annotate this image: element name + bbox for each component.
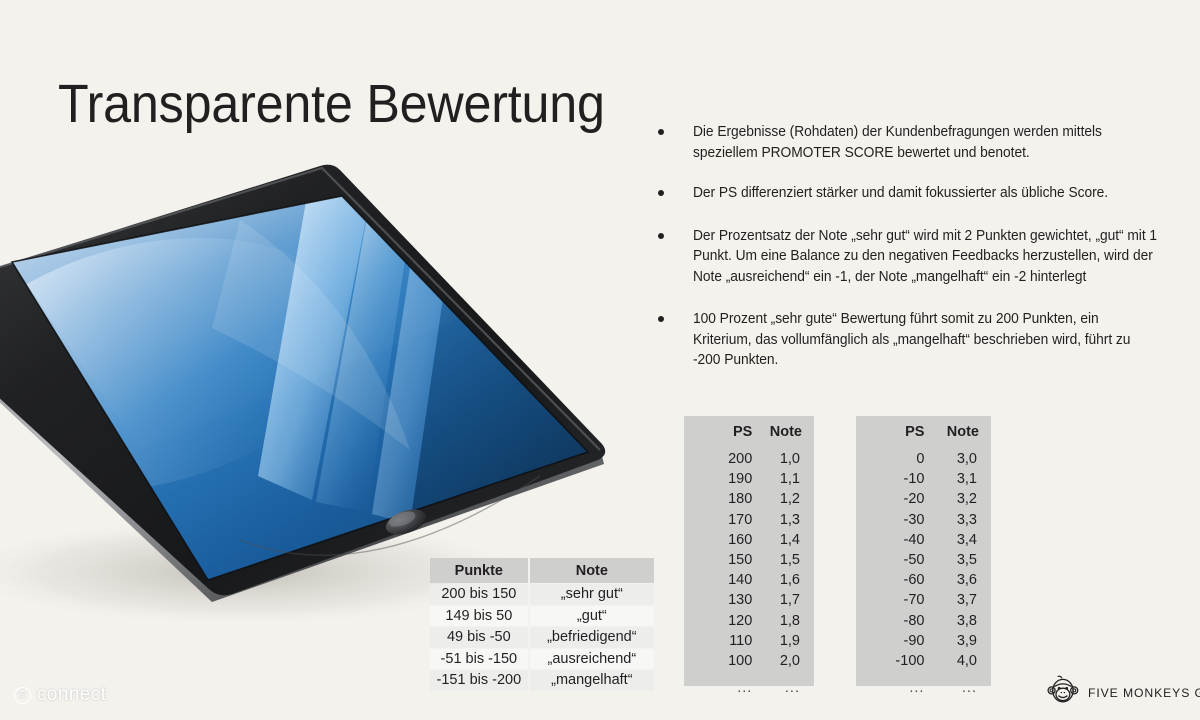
table-row: -103,1 [878,469,979,489]
table-row-continuation: ...... [710,671,802,698]
cell-ps: -30 [878,510,924,530]
bullet-item: 100 Prozent „sehr gute“ Bewertung führt … [655,309,1175,371]
cell-note: 3,9 [924,631,979,651]
table-row: -703,7 [878,590,979,610]
cell-ps: -40 [878,530,924,550]
column-header-ps: PS [878,424,924,449]
table-row: -203,2 [878,489,979,509]
table-row: -503,5 [878,550,979,570]
table-row: 1401,6 [710,570,802,590]
table-row: -51 bis -150 „ausreichend“ [430,649,654,670]
bullet-dot-icon [655,316,667,322]
bullet-dot-icon [655,129,667,135]
cell-note: 1,5 [752,550,802,570]
cell-ps: 100 [710,651,752,671]
cell-note: 3,2 [924,489,979,509]
table-row: 03,0 [878,449,979,469]
bullet-list: Die Ergebnisse (Rohdaten) der Kundenbefr… [655,122,1175,371]
cell-ps: 120 [710,611,752,631]
ps-note-table-positive: PS Note 2001,0 1901,1 1801,2 1701,3 1601… [684,416,814,686]
table-row: 1201,8 [710,611,802,631]
bullet-text: Der Prozentsatz der Note „sehr gut“ wird… [693,226,1158,288]
bullet-text: Die Ergebnisse (Rohdaten) der Kundenbefr… [693,122,1158,163]
column-header-note: Note [530,558,654,583]
cell-ps: 130 [710,590,752,610]
table-row: 2001,0 [710,449,802,469]
cell-note: 3,3 [924,510,979,530]
cell-ps: 150 [710,550,752,570]
monkey-face-icon [1046,673,1080,712]
cell-ps: 180 [710,489,752,509]
cell-ps: 200 [710,449,752,469]
punkte-note-table: Punkte Note 200 bis 150 „sehr gut“ 149 b… [428,557,656,692]
cell-punkte: 149 bis 50 [430,606,528,627]
column-header-ps: PS [710,424,752,449]
tablet-metal-edge [0,176,604,602]
connect-watermark: © connect [14,684,106,706]
cell-ps: 140 [710,570,752,590]
table-row: 1801,2 [710,489,802,509]
screen-inner-border [12,196,588,580]
cell-note: 1,2 [752,489,802,509]
cell-punkte: 200 bis 150 [430,584,528,605]
cell-note: 1,0 [752,449,802,469]
cell-note: 1,7 [752,590,802,610]
cell-note: 3,8 [924,611,979,631]
table-row: -151 bis -200 „mangelhaft“ [430,670,654,691]
tablet-screen [0,170,610,600]
bullet-text: Der PS differenziert stärker und damit f… [693,183,1158,204]
table-row: -303,3 [878,510,979,530]
bullet-item: Der PS differenziert stärker und damit f… [655,183,1175,204]
cell-ps: -100 [878,651,924,671]
cell-ps: -90 [878,631,924,651]
cell-ps-continuation: ... [710,671,752,698]
ps-note-table-negative: PS Note 03,0 -103,1 -203,2 -303,3 -403,4… [856,416,991,686]
cell-ps: 190 [710,469,752,489]
table-header-row: Punkte Note [430,558,654,583]
cell-ps: -20 [878,489,924,509]
cell-note: 3,4 [924,530,979,550]
copyright-icon: © [14,687,31,704]
column-header-punkte: Punkte [430,558,528,583]
slide-canvas: Transparente Bewertung Die Ergebnisse (R… [0,0,1200,720]
cell-ps: -50 [878,550,924,570]
cell-punkte: 49 bis -50 [430,627,528,648]
table-row: 1701,3 [710,510,802,530]
table-header-row: PS Note [710,424,802,449]
cell-note: 1,4 [752,530,802,550]
table-row: -403,4 [878,530,979,550]
cell-note: 1,9 [752,631,802,651]
bullet-item: Der Prozentsatz der Note „sehr gut“ wird… [655,226,1175,288]
cell-note: 3,6 [924,570,979,590]
cell-ps-continuation: ... [878,671,924,698]
cell-ps: 0 [878,449,924,469]
cell-note-continuation: ... [752,671,802,698]
cell-note: „sehr gut“ [530,584,654,605]
cell-punkte: -51 bis -150 [430,649,528,670]
cell-ps: -70 [878,590,924,610]
tablet-body [0,165,605,596]
table-row: 1101,9 [710,631,802,651]
table-row: 1601,4 [710,530,802,550]
cell-note: „gut“ [530,606,654,627]
logo-text: FIVE MONKEYS GROUP [1088,686,1200,700]
home-button [383,505,430,539]
bezel-reflection [240,476,540,555]
cell-note-continuation: ... [924,671,979,698]
cell-note: „mangelhaft“ [530,670,654,691]
home-button-highlight [387,508,418,529]
cell-note: 3,7 [924,590,979,610]
table-row: 1901,1 [710,469,802,489]
five-monkeys-group-logo: FIVE MONKEYS GROUP [1046,673,1200,712]
tablet-bezel-highlight [0,168,600,450]
tablet-illustration [0,120,640,620]
cell-note: 4,0 [924,651,979,671]
cell-note: 3,5 [924,550,979,570]
table-row: -603,6 [878,570,979,590]
table-row-continuation: ...... [878,671,979,698]
table-row: 1301,7 [710,590,802,610]
column-header-note: Note [752,424,802,449]
table-row: -903,9 [878,631,979,651]
table-header-row: PS Note [878,424,979,449]
cell-note: 1,8 [752,611,802,631]
bullet-text: 100 Prozent „sehr gute“ Bewertung führt … [693,309,1158,371]
table-row: 49 bis -50 „befriedigend“ [430,627,654,648]
page-title: Transparente Bewertung [58,72,605,136]
cell-note: „befriedigend“ [530,627,654,648]
cell-note: 1,3 [752,510,802,530]
cell-ps: -10 [878,469,924,489]
bullet-dot-icon [655,190,667,196]
table-row: 1501,5 [710,550,802,570]
cell-ps: 160 [710,530,752,550]
cell-note: 1,1 [752,469,802,489]
table-row: -803,8 [878,611,979,631]
cell-note: „ausreichend“ [530,649,654,670]
table-row: -1004,0 [878,651,979,671]
table-row: 149 bis 50 „gut“ [430,606,654,627]
cell-note: 1,6 [752,570,802,590]
cell-note: 3,0 [924,449,979,469]
bullet-dot-icon [655,233,667,239]
cell-note: 2,0 [752,651,802,671]
watermark-label: connect [37,684,106,706]
table-row: 1002,0 [710,651,802,671]
table-row: 200 bis 150 „sehr gut“ [430,584,654,605]
cell-ps: -60 [878,570,924,590]
cell-ps: -80 [878,611,924,631]
cell-punkte: -151 bis -200 [430,670,528,691]
cell-ps: 170 [710,510,752,530]
bullet-item: Die Ergebnisse (Rohdaten) der Kundenbefr… [655,122,1175,163]
cell-ps: 110 [710,631,752,651]
column-header-note: Note [924,424,979,449]
cell-note: 3,1 [924,469,979,489]
